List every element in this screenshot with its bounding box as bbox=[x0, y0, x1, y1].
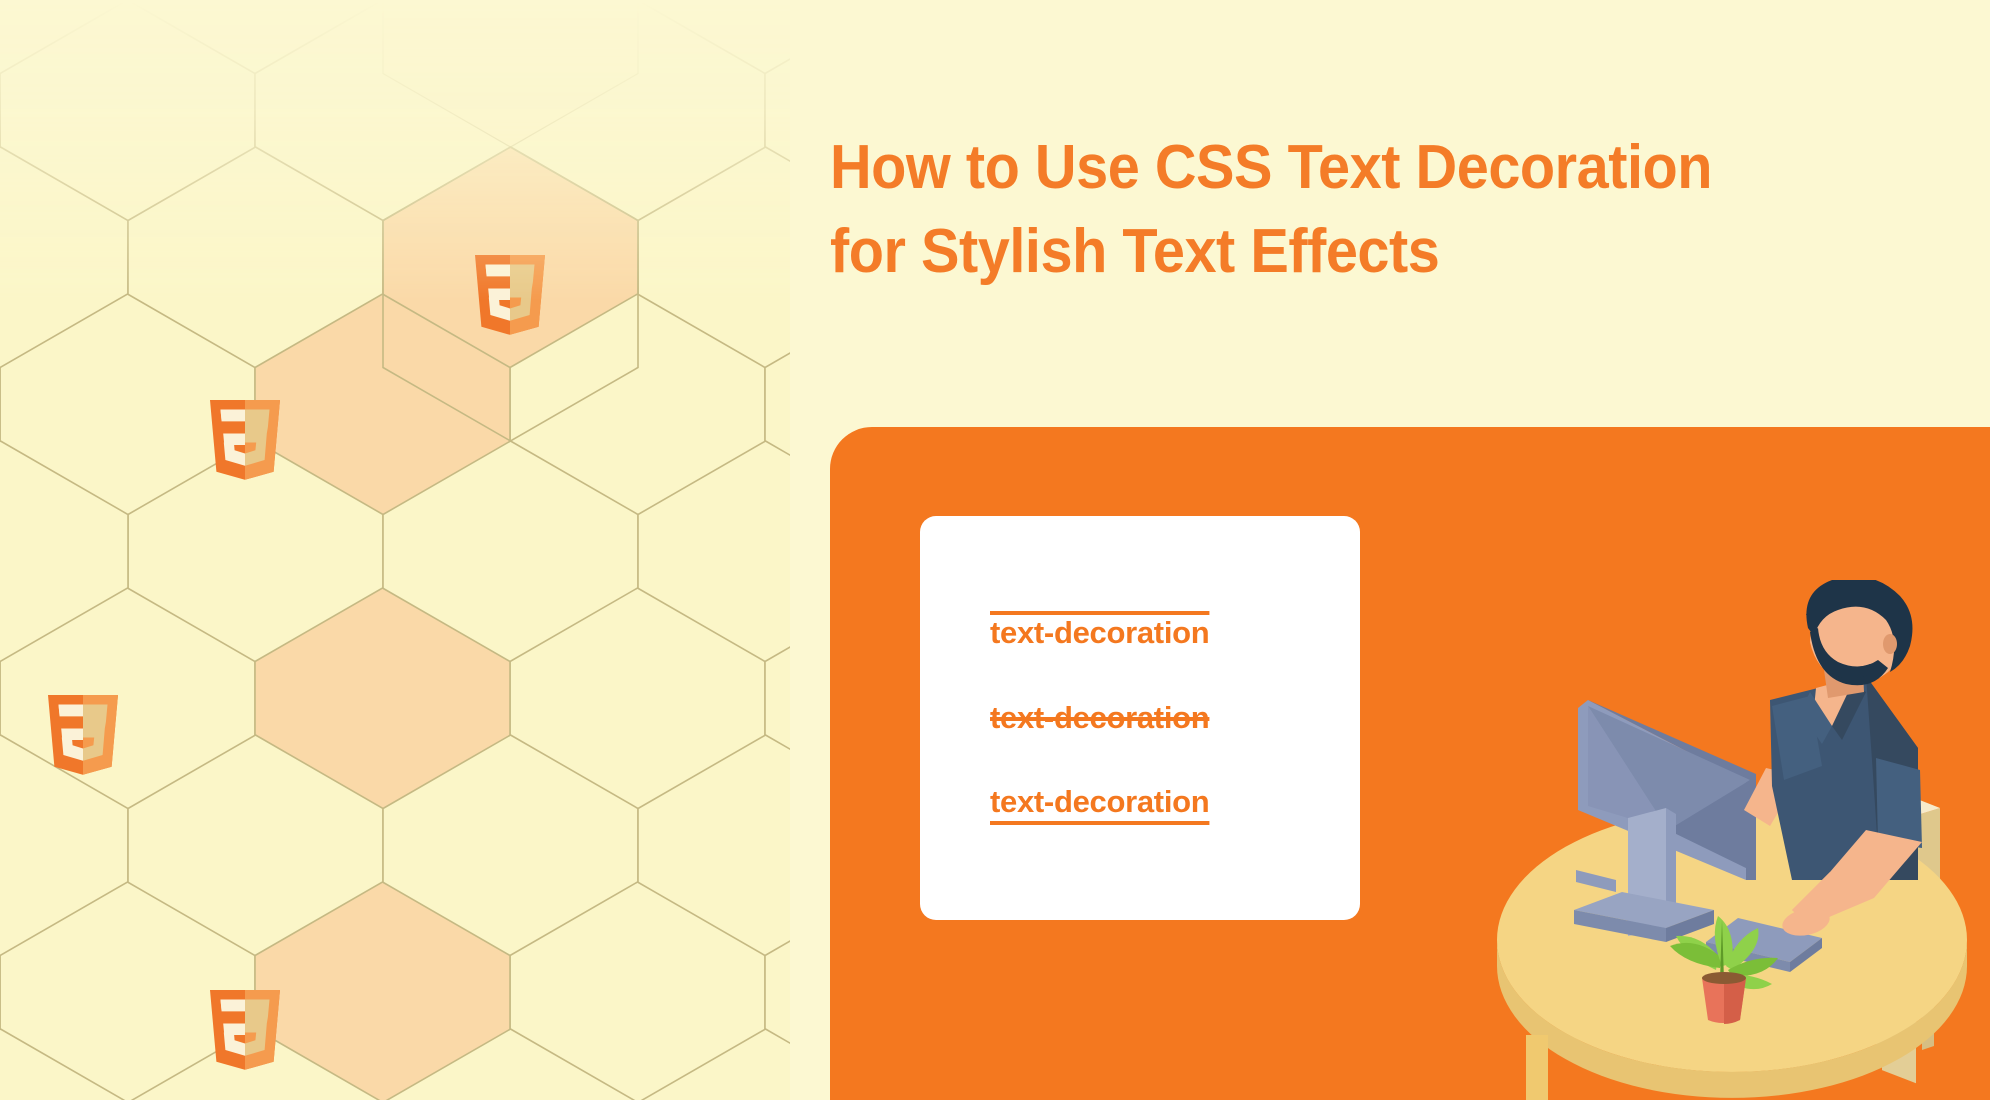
css3-shield-logo bbox=[48, 695, 118, 775]
desk bbox=[1497, 808, 1967, 1100]
potted-plant bbox=[1670, 916, 1778, 1024]
demo-underline-example: text-decoration bbox=[990, 786, 1290, 819]
page-title: How to Use CSS Text Decoration for Styli… bbox=[830, 126, 1760, 294]
text-decoration-demo-card: text-decoration text-decoration text-dec… bbox=[920, 516, 1360, 920]
monitor bbox=[1574, 700, 1756, 942]
css3-shield-logo bbox=[210, 990, 280, 1070]
man-at-desk-illustration bbox=[1470, 580, 1990, 1100]
hexagon-pattern-background bbox=[0, 0, 790, 1100]
person bbox=[1744, 580, 1922, 940]
demo-example-list: text-decoration text-decoration text-dec… bbox=[990, 516, 1290, 920]
poster-canvas: How to Use CSS Text Decoration for Styli… bbox=[0, 0, 1990, 1100]
css3-shield-logo bbox=[210, 400, 280, 480]
chair bbox=[1868, 790, 1940, 1083]
css3-shield-logo bbox=[475, 255, 545, 335]
demo-line-through-example: text-decoration bbox=[990, 702, 1290, 735]
keyboard bbox=[1706, 918, 1822, 972]
demo-overline-example: text-decoration bbox=[990, 617, 1290, 650]
